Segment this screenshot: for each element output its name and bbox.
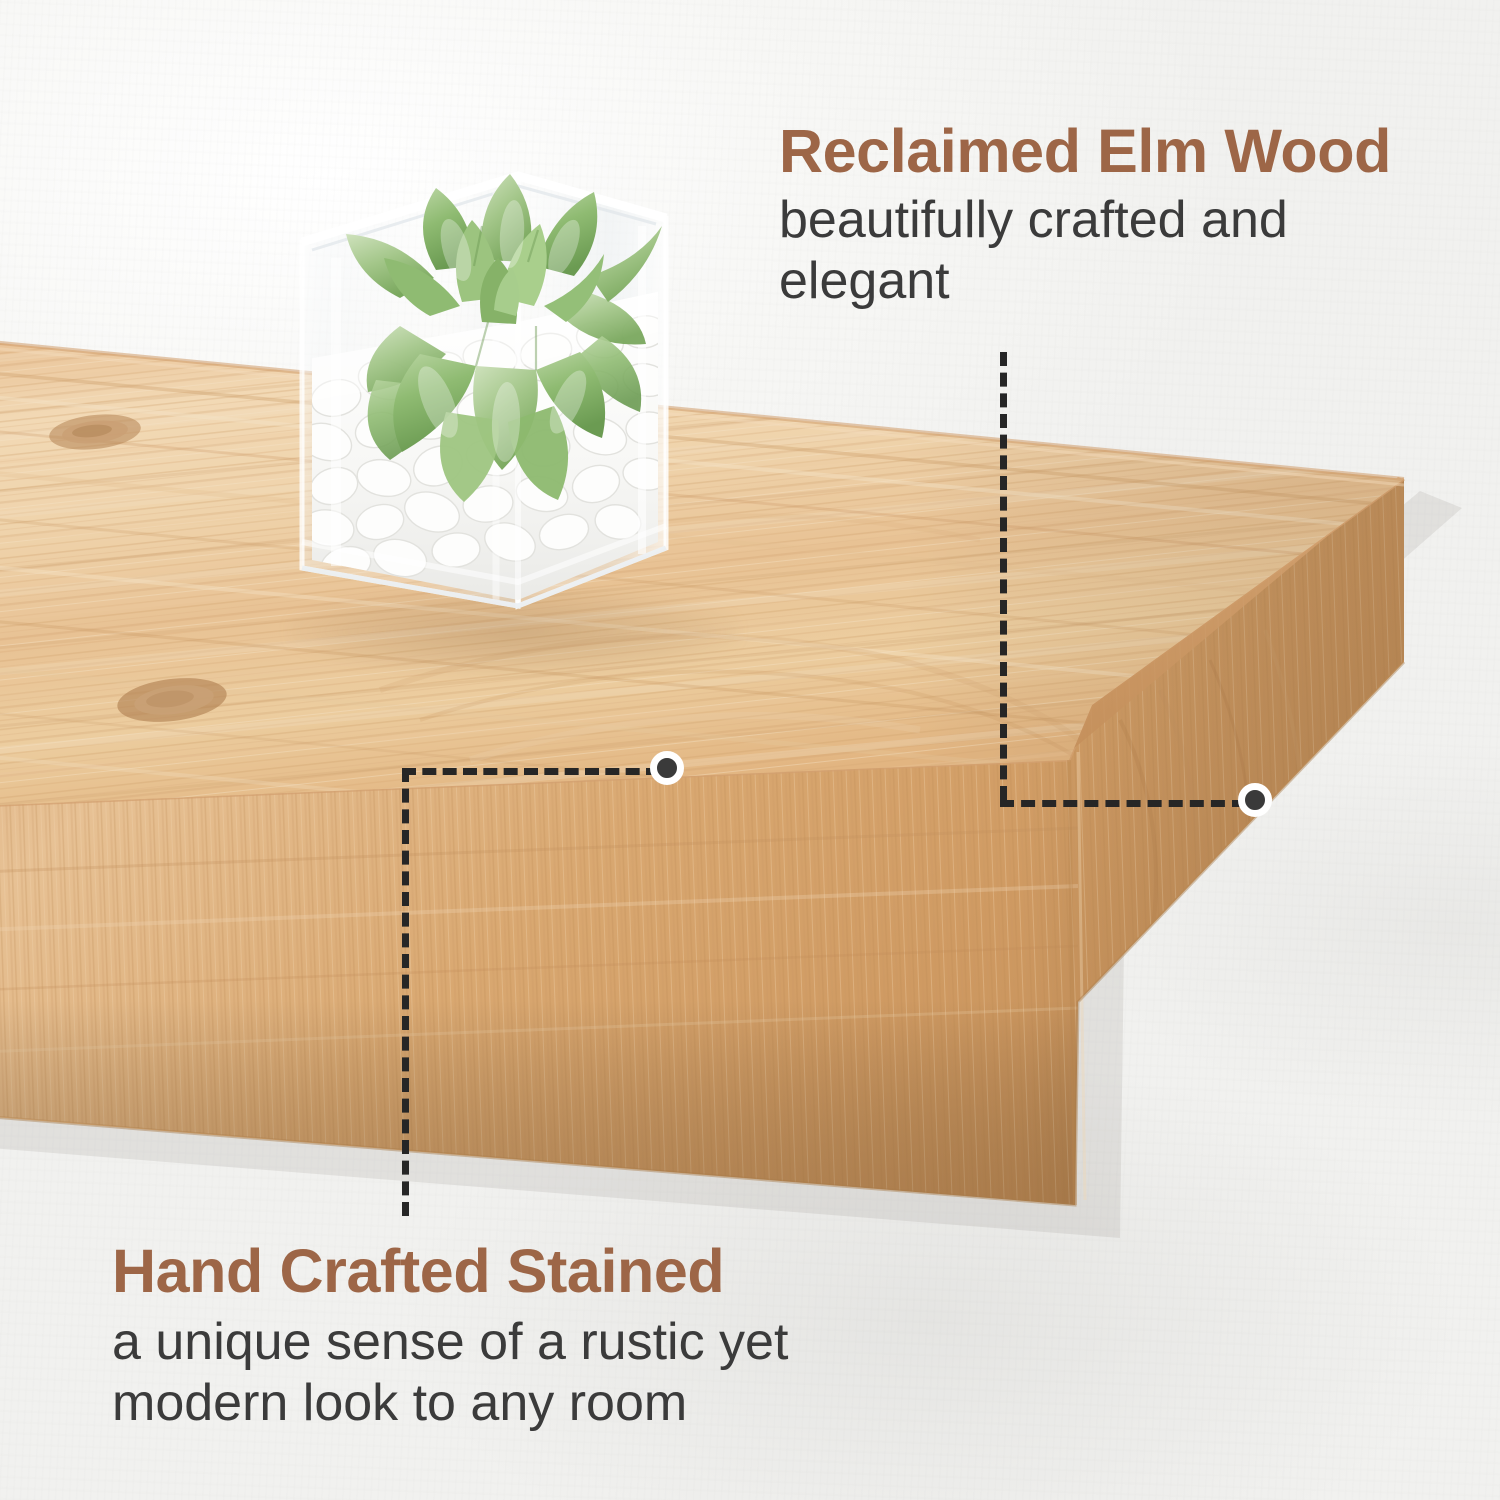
callout-reclaimed-elm-wood: Reclaimed Elm Wood beautifully crafted a… (779, 120, 1479, 311)
infographic-canvas: Reclaimed Elm Wood beautifully crafted a… (0, 0, 1500, 1500)
callout-bottom-horizontal-line (402, 768, 660, 775)
callout-top-subtext: beautifully crafted and elegant (779, 190, 1379, 311)
callout-top-vertical-line (1000, 352, 1007, 800)
callout-bottom-subtext: a unique sense of a rustic yet modern lo… (112, 1312, 882, 1433)
callout-top-horizontal-line (1000, 800, 1246, 807)
callout-bottom-heading: Hand Crafted Stained (112, 1240, 932, 1302)
glass-cube-vase-with-succulent (250, 130, 770, 690)
callout-bottom-vertical-line (402, 768, 409, 1216)
callout-top-marker-dot[interactable] (1238, 783, 1272, 817)
callout-bottom-marker-dot[interactable] (650, 751, 684, 785)
callout-hand-crafted-stained: Hand Crafted Stained a unique sense of a… (112, 1240, 932, 1433)
callout-top-heading: Reclaimed Elm Wood (779, 120, 1479, 182)
